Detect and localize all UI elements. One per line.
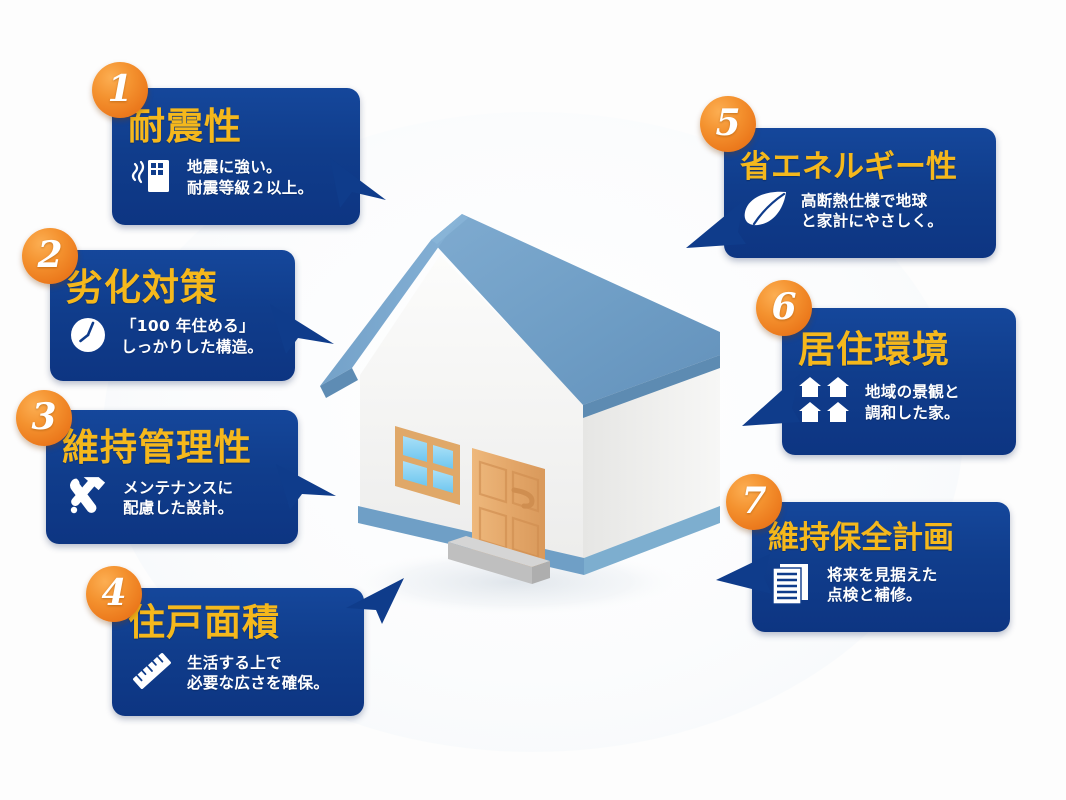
card-1-description: 地震に強い。 耐震等級２以上。 [187, 157, 313, 198]
card-4-number: 4 [101, 575, 126, 613]
infographic-canvas: 耐震性 地震に強い。 耐震等級２以上。 [0, 0, 1066, 800]
shaking-building-icon [128, 152, 176, 204]
card-1-title: 耐震性 [128, 108, 346, 146]
callout-card-6[interactable]: 居住環境 地域の景観と 調和した家。 [782, 308, 1016, 455]
card-6-title: 居住環境 [798, 331, 1002, 369]
four-houses-icon [798, 375, 854, 431]
card-4-description: 生活する上で 必要な広さを確保。 [187, 653, 329, 694]
card-4-badge: 4 [86, 566, 142, 622]
card-7-number: 7 [741, 483, 766, 521]
card-5-description: 高断熱仕様で地球 と家計にやさしく。 [801, 191, 943, 232]
card-3-number: 3 [31, 399, 56, 437]
card-7-title: 維持保全計画 [768, 522, 996, 554]
card-1-number: 1 [107, 71, 132, 109]
callout-card-2[interactable]: 劣化対策 「100 年住める」 しっかりした構造。 [50, 250, 295, 381]
card-5-badge: 5 [700, 96, 756, 152]
card-5-tail [686, 192, 748, 256]
callout-card-7[interactable]: 維持保全計画 将来を見据えた 点検と [752, 502, 1010, 632]
house-illustration [300, 190, 720, 630]
clock-icon [66, 313, 110, 361]
wrench-hammer-icon [62, 472, 112, 524]
card-5-number: 5 [715, 105, 740, 143]
card-3-description: メンテナンスに 配慮した設計。 [123, 478, 234, 519]
card-2-badge: 2 [22, 228, 78, 284]
callout-card-5[interactable]: 省エネルギー性 高断熱仕様で地球 と家計にやさしく。 [724, 128, 996, 258]
document-icon [768, 559, 816, 611]
card-2-tail [270, 300, 340, 364]
card-3-tail [276, 460, 340, 520]
card-7-badge: 7 [726, 474, 782, 530]
card-3-badge: 3 [16, 390, 72, 446]
callout-card-4[interactable]: 住戸面積 [112, 588, 364, 716]
card-5-title: 省エネルギー性 [740, 151, 982, 183]
card-1-tail [330, 152, 390, 216]
card-4-tail [340, 578, 406, 634]
callout-card-1[interactable]: 耐震性 地震に強い。 耐震等級２以上。 [112, 88, 360, 225]
card-7-tail [716, 552, 774, 606]
card-2-number: 2 [37, 237, 62, 275]
card-6-description: 地域の景観と 調和した家。 [865, 382, 960, 423]
card-2-title: 劣化対策 [66, 269, 281, 307]
card-4-title: 住戸面積 [128, 604, 350, 642]
card-6-number: 6 [771, 289, 796, 327]
card-2-description: 「100 年住める」 しっかりした構造。 [121, 316, 263, 357]
card-1-badge: 1 [92, 62, 148, 118]
callout-card-3[interactable]: 維持管理性 メンテナンスに 配慮した設計。 [46, 410, 298, 544]
card-6-tail [742, 368, 804, 434]
card-7-description: 将来を見据えた 点検と補修。 [827, 565, 938, 606]
ruler-icon [128, 647, 176, 699]
card-6-badge: 6 [756, 280, 812, 336]
card-3-title: 維持管理性 [62, 429, 284, 467]
